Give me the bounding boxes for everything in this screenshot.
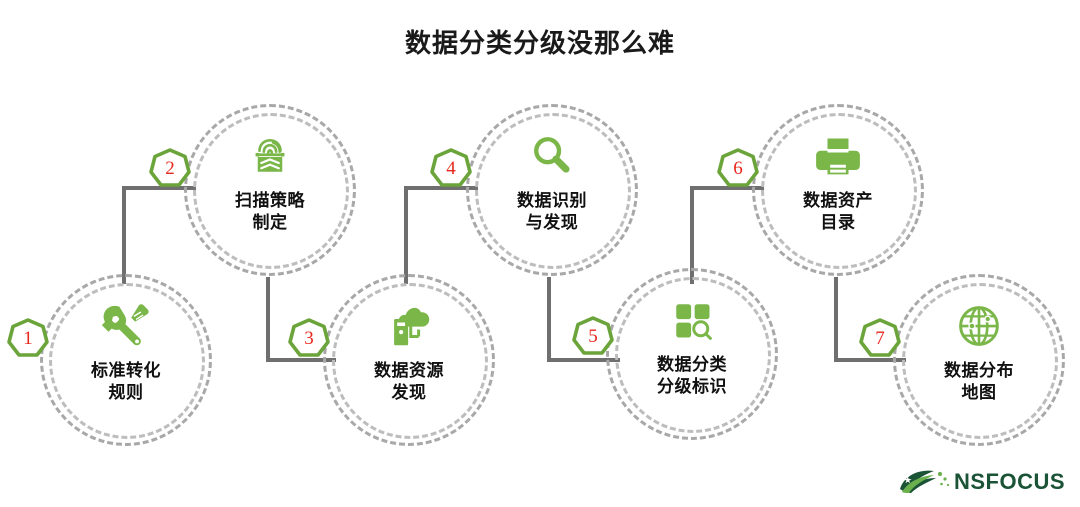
node-5[interactable]: 数据分类 分级标识 (606, 268, 778, 440)
step-badge-7[interactable]: 7 (858, 317, 902, 361)
step-badge-number: 5 (571, 315, 615, 359)
node-4[interactable]: 数据识别 与发现 (466, 104, 638, 276)
step-badge-2[interactable]: 2 (148, 147, 192, 191)
node-label: 数据分布 地图 (944, 360, 1014, 404)
nsfocus-logo: NSFOCUS (896, 462, 1064, 502)
step-badge-number: 7 (858, 317, 902, 361)
nsfocus-swoosh-icon (900, 471, 949, 493)
node-label: 数据资源 发现 (374, 360, 444, 404)
step-badge-6[interactable]: 6 (716, 147, 760, 191)
step-badge-number: 3 (287, 317, 331, 361)
step-badge-number: 6 (716, 147, 760, 191)
step-badge-number: 2 (148, 147, 192, 191)
node-6[interactable]: 数据资产 目录 (752, 104, 924, 276)
infographic-canvas: 数据分类分级没那么难 (0, 0, 1080, 507)
step-badge-number: 1 (6, 317, 50, 361)
step-badge-5[interactable]: 5 (571, 315, 615, 359)
step-badge-number: 4 (429, 147, 473, 191)
step-badge-1[interactable]: 1 (6, 317, 50, 361)
fingerprint-scanner-icon (242, 128, 298, 184)
node-label: 数据资产 目录 (803, 190, 873, 234)
server-cloud-icon (381, 298, 437, 354)
node-1[interactable]: 标准转化 规则 (40, 274, 212, 446)
node-2[interactable]: 扫描策略 制定 (184, 104, 356, 276)
wrench-screwdriver-icon (98, 298, 154, 354)
nsfocus-wordmark: NSFOCUS (954, 469, 1064, 494)
step-badge-3[interactable]: 3 (287, 317, 331, 361)
globe-icon (951, 298, 1007, 354)
node-label: 数据识别 与发现 (517, 190, 587, 234)
node-7[interactable]: 数据分布 地图 (893, 274, 1065, 446)
node-3[interactable]: 数据资源 发现 (323, 274, 495, 446)
node-label: 标准转化 规则 (91, 360, 161, 404)
node-label: 扫描策略 制定 (235, 190, 305, 234)
printer-icon (810, 128, 866, 184)
node-label: 数据分类 分级标识 (657, 354, 727, 398)
step-badge-4[interactable]: 4 (429, 147, 473, 191)
magnifier-icon (524, 128, 580, 184)
grid-search-icon (664, 292, 720, 348)
